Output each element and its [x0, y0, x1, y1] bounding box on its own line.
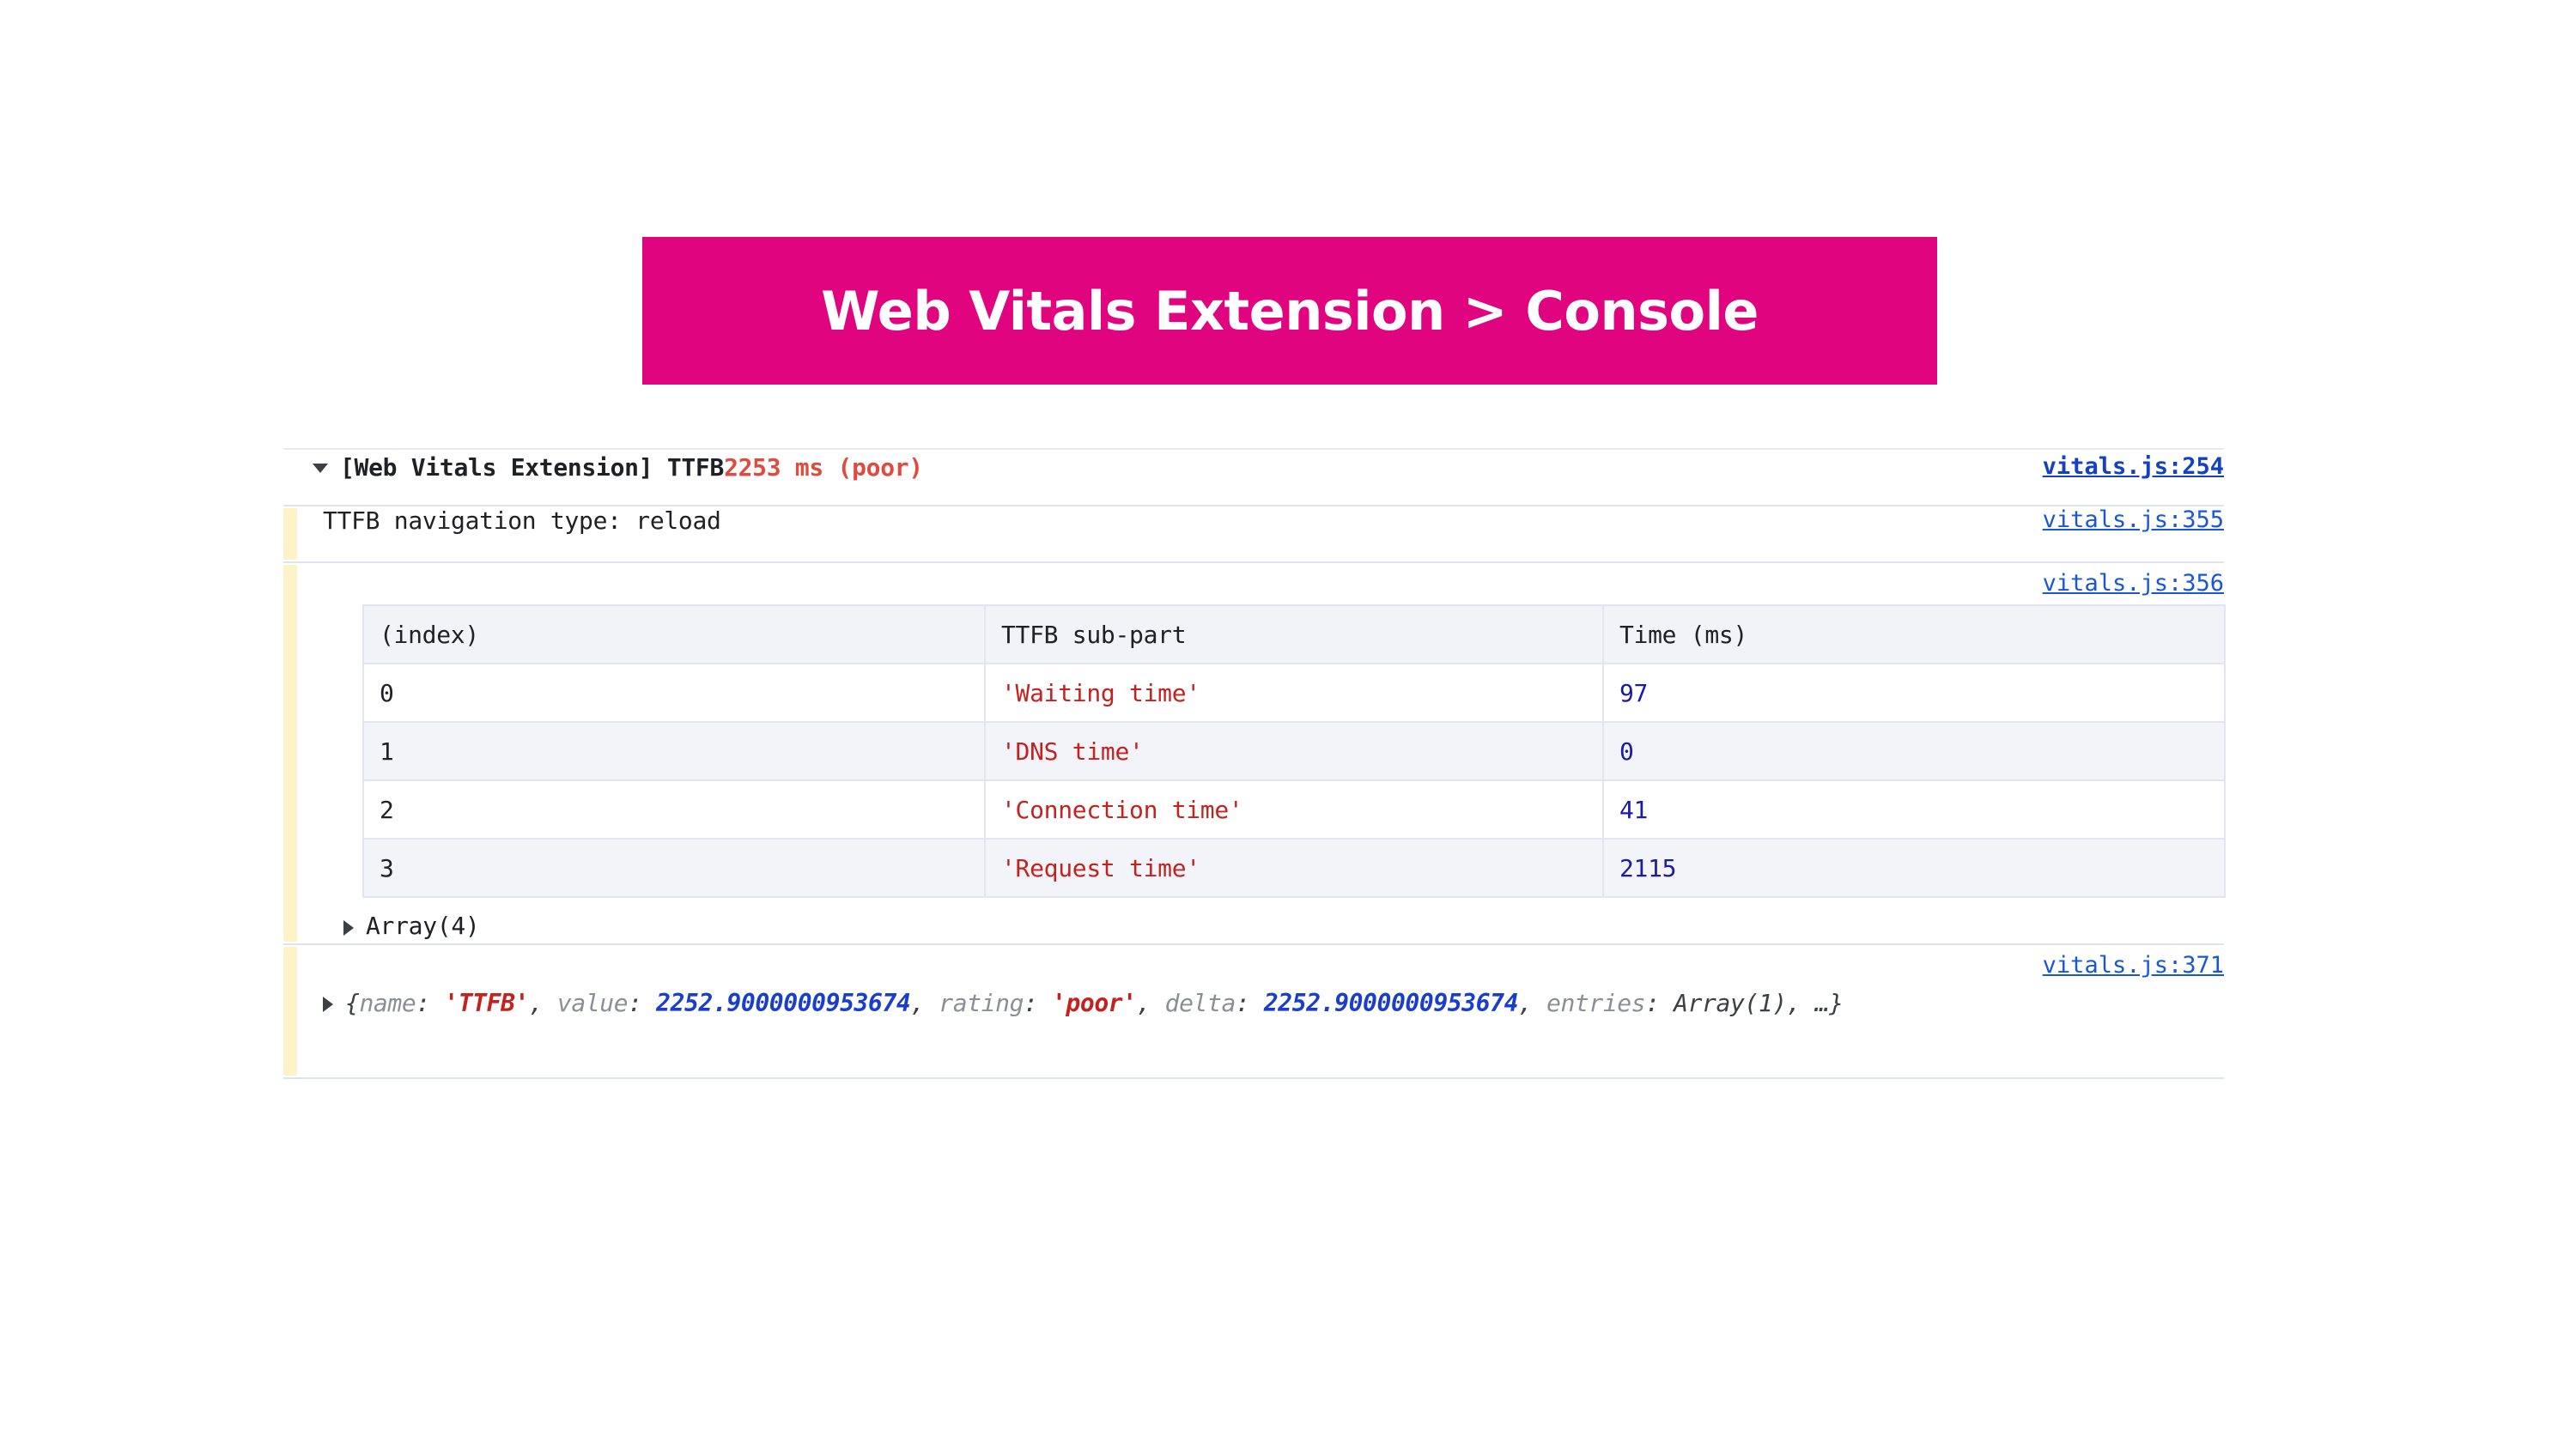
- column-header-subpart[interactable]: TTFB sub-part: [985, 605, 1603, 664]
- warning-gutter-bar: [283, 947, 297, 1076]
- object-token-punct: :: [416, 989, 444, 1017]
- source-link-vitals-371[interactable]: vitals.js:371: [2026, 952, 2224, 979]
- message-prefix: [Web Vitals Extension] TTFB: [340, 453, 724, 482]
- console-table-group[interactable]: vitals.js:356 (index) TTFB sub-part Time…: [283, 563, 2224, 945]
- triangle-down-icon[interactable]: [313, 464, 328, 473]
- table-row[interactable]: 2 'Connection time' 41: [363, 780, 2225, 839]
- array-preview-row[interactable]: Array(4): [343, 912, 2224, 940]
- warning-gutter-bar: [283, 565, 297, 942]
- cell-time: 97: [1603, 664, 2225, 722]
- object-token-plain: Array(1): [1674, 989, 1787, 1017]
- source-link-vitals-254[interactable]: vitals.js:254: [2026, 453, 2224, 480]
- page-title: Web Vitals Extension > Console: [821, 280, 1759, 343]
- source-link-vitals-355[interactable]: vitals.js:355: [2026, 506, 2224, 533]
- object-token-num: 2252.9000000953674: [656, 989, 910, 1017]
- array-label: Array(4): [366, 912, 479, 940]
- object-token-key: name: [359, 989, 416, 1017]
- devtools-console-panel: [Web Vitals Extension] TTFB 2253 ms (poo…: [283, 448, 2224, 1116]
- table-row[interactable]: 3 'Request time' 2115: [363, 839, 2225, 897]
- object-token-key: delta: [1165, 989, 1236, 1017]
- nav-type-text: TTFB navigation type: reload: [313, 506, 721, 535]
- object-token-key: rating: [939, 989, 1024, 1017]
- cell-time: 2115: [1603, 839, 2225, 897]
- console-message-nav-type[interactable]: TTFB navigation type: reload vitals.js:3…: [283, 506, 2224, 563]
- cell-index: 3: [363, 839, 985, 897]
- cell-index: 2: [363, 780, 985, 839]
- object-token-num: 2252.9000000953674: [1264, 989, 1518, 1017]
- object-token-str: 'poor': [1052, 989, 1137, 1017]
- object-token-key: entries: [1546, 989, 1645, 1017]
- table-header-row: (index) TTFB sub-part Time (ms): [363, 605, 2225, 664]
- object-token-punct: ,: [529, 989, 557, 1017]
- object-token-punct: ,: [1137, 989, 1165, 1017]
- console-object-group[interactable]: vitals.js:371 {name: 'TTFB', value: 2252…: [283, 945, 2224, 1079]
- object-token-punct: :: [1236, 989, 1264, 1017]
- object-token-punct: {: [345, 989, 359, 1017]
- object-token-punct: ,: [1518, 989, 1546, 1017]
- cell-subpart: 'Connection time': [985, 780, 1603, 839]
- table-row[interactable]: 0 'Waiting time' 97: [363, 664, 2225, 722]
- console-message-text: [Web Vitals Extension] TTFB 2253 ms (poo…: [313, 453, 923, 482]
- column-header-time[interactable]: Time (ms): [1603, 605, 2225, 664]
- cell-subpart: 'DNS time': [985, 722, 1603, 780]
- object-token-punct: :: [628, 989, 656, 1017]
- cell-index: 0: [363, 664, 985, 722]
- ttfb-subparts-table: (index) TTFB sub-part Time (ms) 0 'Waiti…: [362, 604, 2226, 898]
- console-message-header[interactable]: [Web Vitals Extension] TTFB 2253 ms (poo…: [283, 448, 2224, 506]
- cell-time: 0: [1603, 722, 2225, 780]
- object-token-key: value: [557, 989, 628, 1017]
- cell-time: 41: [1603, 780, 2225, 839]
- triangle-right-icon[interactable]: [323, 997, 333, 1012]
- cell-subpart: 'Waiting time': [985, 664, 1603, 722]
- cell-index: 1: [363, 722, 985, 780]
- object-preview-text: {name: 'TTFB', value: 2252.9000000953674…: [345, 988, 1844, 1020]
- cell-subpart: 'Request time': [985, 839, 1603, 897]
- column-header-index[interactable]: (index): [363, 605, 985, 664]
- object-token-punct: :: [1645, 989, 1674, 1017]
- object-token-punct: :: [1024, 989, 1052, 1017]
- source-link-vitals-356[interactable]: vitals.js:356: [2026, 570, 2224, 597]
- object-token-punct: , …}: [1787, 989, 1844, 1017]
- warning-gutter-bar: [283, 508, 297, 560]
- table-row[interactable]: 1 'DNS time' 0: [363, 722, 2225, 780]
- page-title-banner: Web Vitals Extension > Console: [642, 237, 1937, 385]
- triangle-right-icon[interactable]: [343, 920, 354, 936]
- object-token-punct: ,: [910, 989, 939, 1017]
- metric-value: 2253 ms (poor): [724, 453, 923, 482]
- object-token-str: 'TTFB': [444, 989, 529, 1017]
